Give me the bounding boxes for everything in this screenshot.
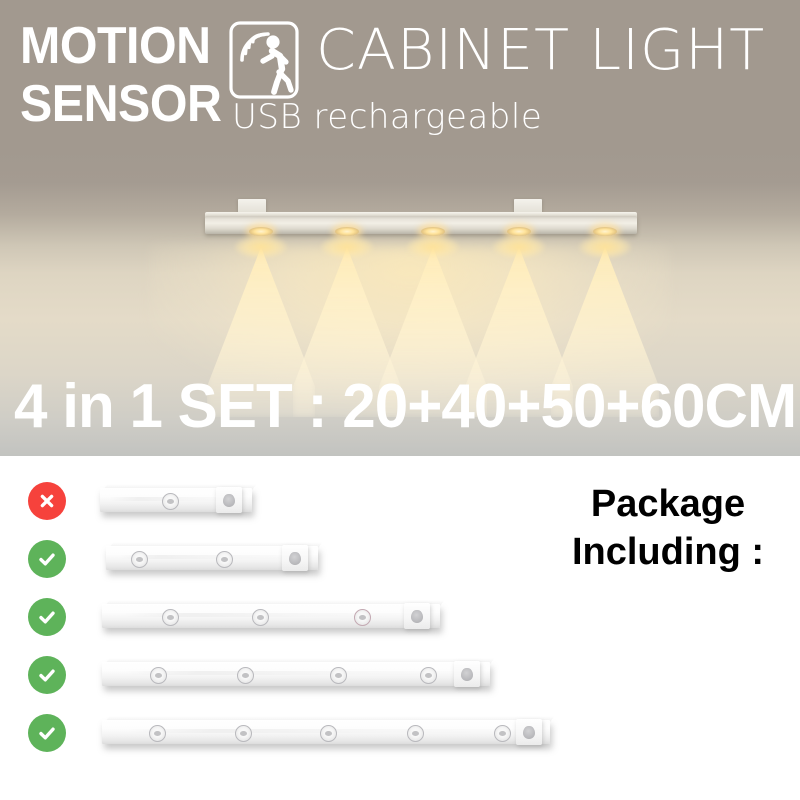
check-icon: [36, 548, 58, 570]
product-name-heading: CABINET LIGHT: [316, 23, 765, 79]
led-sensor: [320, 725, 337, 742]
led-sensor: [162, 493, 179, 510]
cross-badge: [28, 482, 66, 520]
led-glow: [235, 236, 287, 258]
fixture-led: [593, 227, 617, 236]
bar-endcap: [216, 487, 242, 513]
check-icon: [36, 606, 58, 628]
bar-endcap: [282, 545, 308, 571]
light-bar-60cm-a: [102, 658, 490, 686]
package-title-line2: Including :: [572, 531, 764, 573]
bar-endcap: [454, 661, 480, 687]
fixture-led: [507, 227, 531, 236]
fixture-led: [335, 227, 359, 236]
motion-heading: MOTION: [20, 20, 211, 72]
led-glow: [407, 236, 459, 258]
led-glow: [321, 236, 373, 258]
check-icon: [36, 722, 58, 744]
bar-endcap: [404, 603, 430, 629]
fixture-led: [249, 227, 273, 236]
light-bar-60cm-b: [102, 716, 550, 744]
bar-endcap: [516, 719, 542, 745]
subtitle-usb-rechargeable: USB rechargeable: [232, 100, 542, 134]
endcap-button: [289, 552, 301, 565]
led-sensor: [494, 725, 511, 742]
endcap-button: [461, 668, 473, 681]
endcap-button: [523, 726, 535, 739]
led-sensor: [407, 725, 424, 742]
led-sensor: [354, 609, 371, 626]
check-icon: [36, 664, 58, 686]
light-bar-20cm: [100, 484, 252, 512]
led-sensor: [420, 667, 437, 684]
motion-sensor-icon: [228, 20, 300, 100]
led-sensor: [330, 667, 347, 684]
led-sensor: [216, 551, 233, 568]
bar-sheen: [125, 671, 466, 675]
product-poster: MOTION SENSOR: [0, 0, 800, 800]
led-sensor: [150, 667, 167, 684]
light-bar-40cm: [106, 542, 318, 570]
product-photo-section: MOTION SENSOR: [0, 0, 800, 456]
bar-body: [102, 604, 440, 628]
cross-icon: [37, 491, 57, 511]
fixture-led: [421, 227, 445, 236]
led-sensor: [235, 725, 252, 742]
led-sensor: [237, 667, 254, 684]
light-bar-50cm: [102, 600, 440, 628]
check-badge: [28, 598, 66, 636]
check-badge: [28, 656, 66, 694]
led-sensor: [252, 609, 269, 626]
led-sensor: [162, 609, 179, 626]
check-badge: [28, 540, 66, 578]
led-glow: [579, 236, 631, 258]
header-text-block: MOTION SENSOR: [0, 0, 800, 150]
led-glow: [493, 236, 545, 258]
package-title-line1: Package: [591, 483, 745, 525]
sensor-heading: SENSOR: [20, 78, 221, 130]
check-badge: [28, 714, 66, 752]
led-sensor: [149, 725, 166, 742]
package-including-title: Package Including :: [548, 481, 788, 576]
led-sensor: [131, 551, 148, 568]
endcap-button: [411, 610, 423, 623]
set-size-banner: 4 in 1 SET : 20+40+50+60CM: [14, 376, 766, 438]
package-contents-section: Package Including :: [0, 456, 800, 800]
endcap-button: [223, 494, 235, 507]
